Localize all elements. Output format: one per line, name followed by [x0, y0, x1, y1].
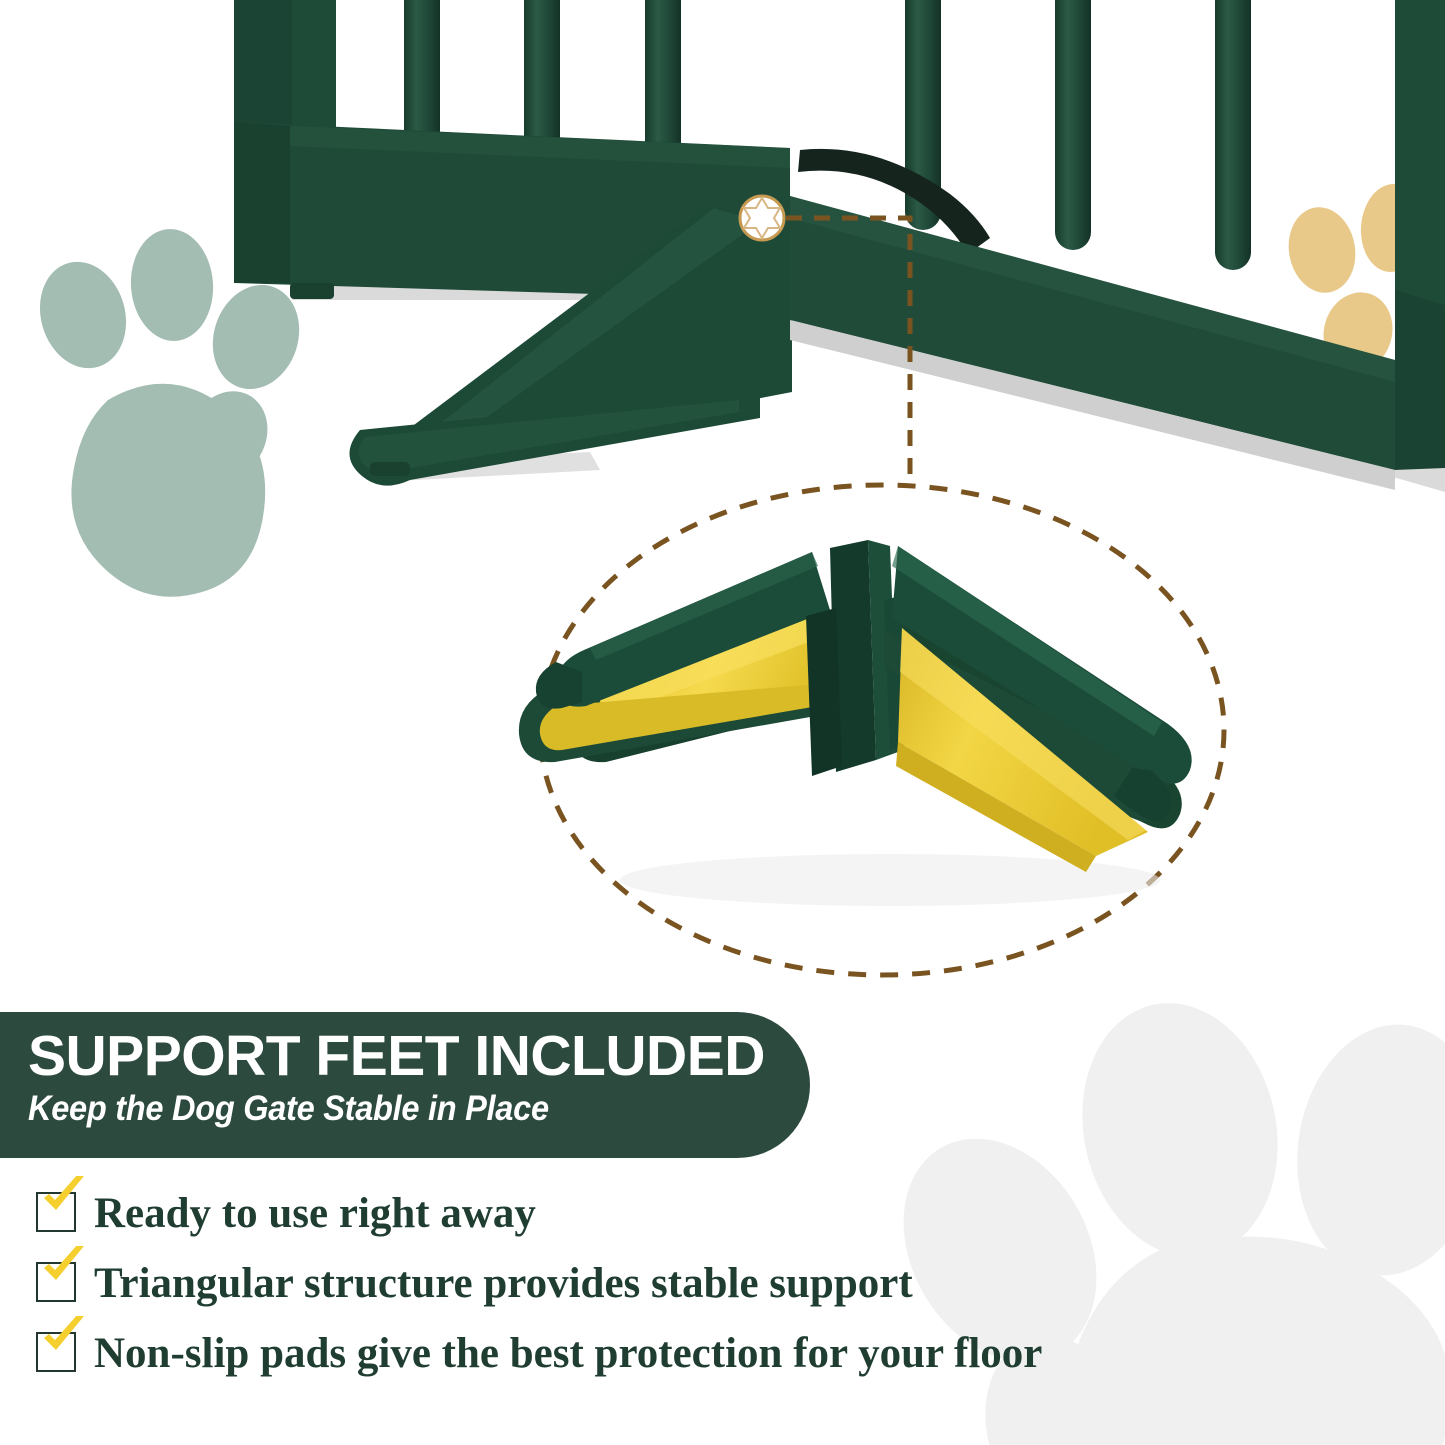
checkbox-frame: [36, 1262, 76, 1302]
feature-banner: SUPPORT FEET INCLUDED Keep the Dog Gate …: [0, 1012, 810, 1158]
feature-bullet-list: Ready to use right away Triangular struc…: [36, 1186, 1236, 1396]
list-item: Triangular structure provides stable sup…: [36, 1256, 1236, 1326]
list-item-label: Non-slip pads give the best protection f…: [94, 1326, 1042, 1382]
support-foot-left-wing: [519, 552, 830, 762]
list-item: Ready to use right away: [36, 1186, 1236, 1256]
checkbox-frame: [36, 1192, 76, 1232]
list-item-label: Ready to use right away: [94, 1186, 536, 1242]
list-item-label: Triangular structure provides stable sup…: [94, 1256, 913, 1312]
support-foot-right-wing: [884, 546, 1192, 872]
list-item: Non-slip pads give the best protection f…: [36, 1326, 1236, 1396]
banner-subtitle: Keep the Dog Gate Stable in Place: [28, 1088, 755, 1130]
checkbox-frame: [36, 1332, 76, 1372]
product-feature-image: SUPPORT FEET INCLUDED Keep the Dog Gate …: [0, 0, 1445, 1445]
banner-title: SUPPORT FEET INCLUDED: [28, 1026, 810, 1086]
